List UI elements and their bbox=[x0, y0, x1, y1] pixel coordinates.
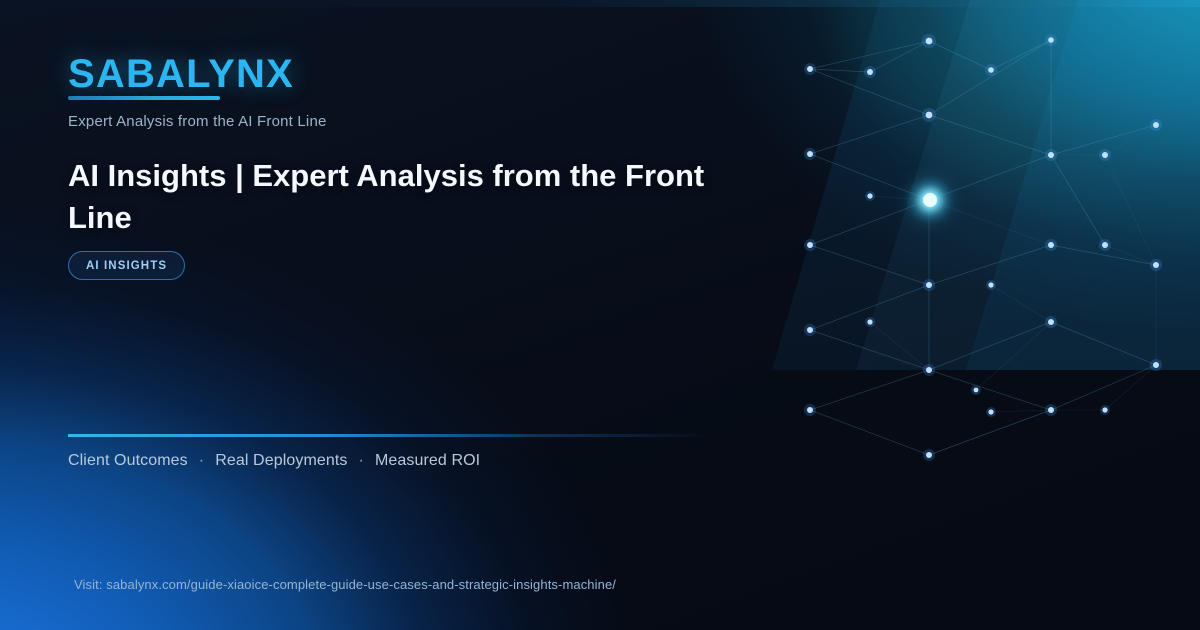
og-card: SABALYNX Expert Analysis from the AI Fro… bbox=[0, 0, 1200, 630]
feature-item-1: Real Deployments bbox=[215, 452, 347, 470]
hero-node-core bbox=[923, 193, 937, 207]
feature-list: Client Outcomes · Real Deployments · Mea… bbox=[68, 452, 480, 470]
feature-separator: · bbox=[188, 452, 215, 470]
brand-underline bbox=[68, 96, 220, 100]
page-title: AI Insights | Expert Analysis from the F… bbox=[68, 155, 758, 239]
visit-url: Visit: sabalynx.com/guide-xiaoice-comple… bbox=[74, 577, 616, 592]
category-badge: AI INSIGHTS bbox=[68, 251, 185, 280]
network-hero-node bbox=[906, 176, 954, 224]
feature-separator: · bbox=[348, 452, 375, 470]
network-nodes bbox=[804, 34, 1162, 461]
content-column: SABALYNX Expert Analysis from the AI Fro… bbox=[68, 0, 768, 630]
feature-item-2: Measured ROI bbox=[375, 452, 480, 470]
section-divider bbox=[68, 434, 713, 437]
brand-wordmark: SABALYNX bbox=[68, 52, 294, 97]
feature-item-0: Client Outcomes bbox=[68, 452, 188, 470]
ai-network-graphic bbox=[760, 0, 1200, 630]
brand-tagline: Expert Analysis from the AI Front Line bbox=[68, 113, 327, 130]
